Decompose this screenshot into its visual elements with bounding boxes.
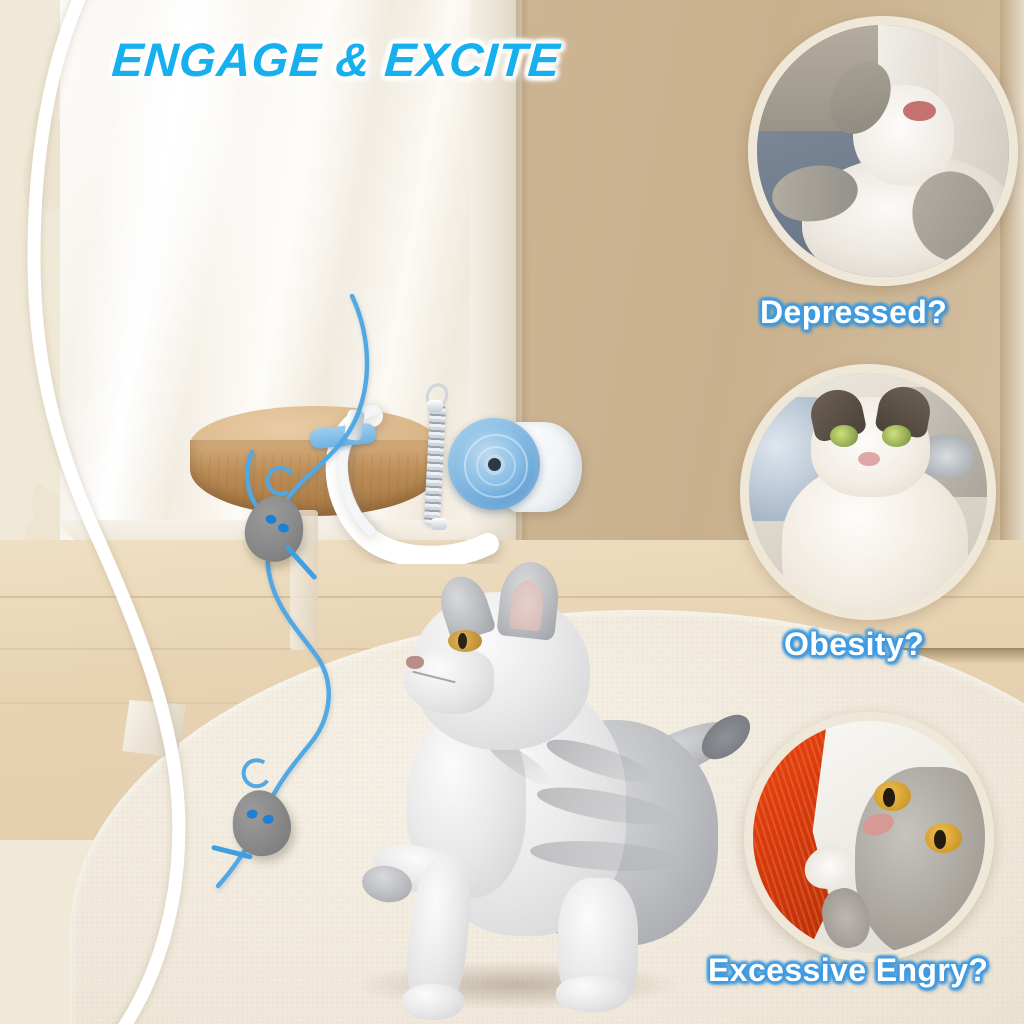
cat-front-paw xyxy=(402,984,464,1020)
marketing-image-canvas: ENGAGE & EXCITE Depressed? xyxy=(0,0,1024,1024)
callout-photo-obesity xyxy=(740,364,996,620)
photo-cat-clawing-rug xyxy=(753,721,985,953)
callout-photo-depressed xyxy=(748,16,1018,286)
white-wavy-divider xyxy=(0,0,410,1024)
callout-label-excessive-angry: Excessive Engry? xyxy=(708,952,988,989)
cat-eye-pupil xyxy=(458,633,467,649)
page-title: ENGAGE & EXCITE xyxy=(110,32,562,87)
photo-cat-lying-on-back xyxy=(757,25,1009,277)
cat-hind-paw xyxy=(556,976,628,1012)
photo-overweight-cat xyxy=(749,373,987,611)
callout-label-obesity: Obesity? xyxy=(784,626,924,663)
callout-photo-excessive-angry xyxy=(744,712,994,962)
callout-label-depressed: Depressed? xyxy=(760,294,947,331)
